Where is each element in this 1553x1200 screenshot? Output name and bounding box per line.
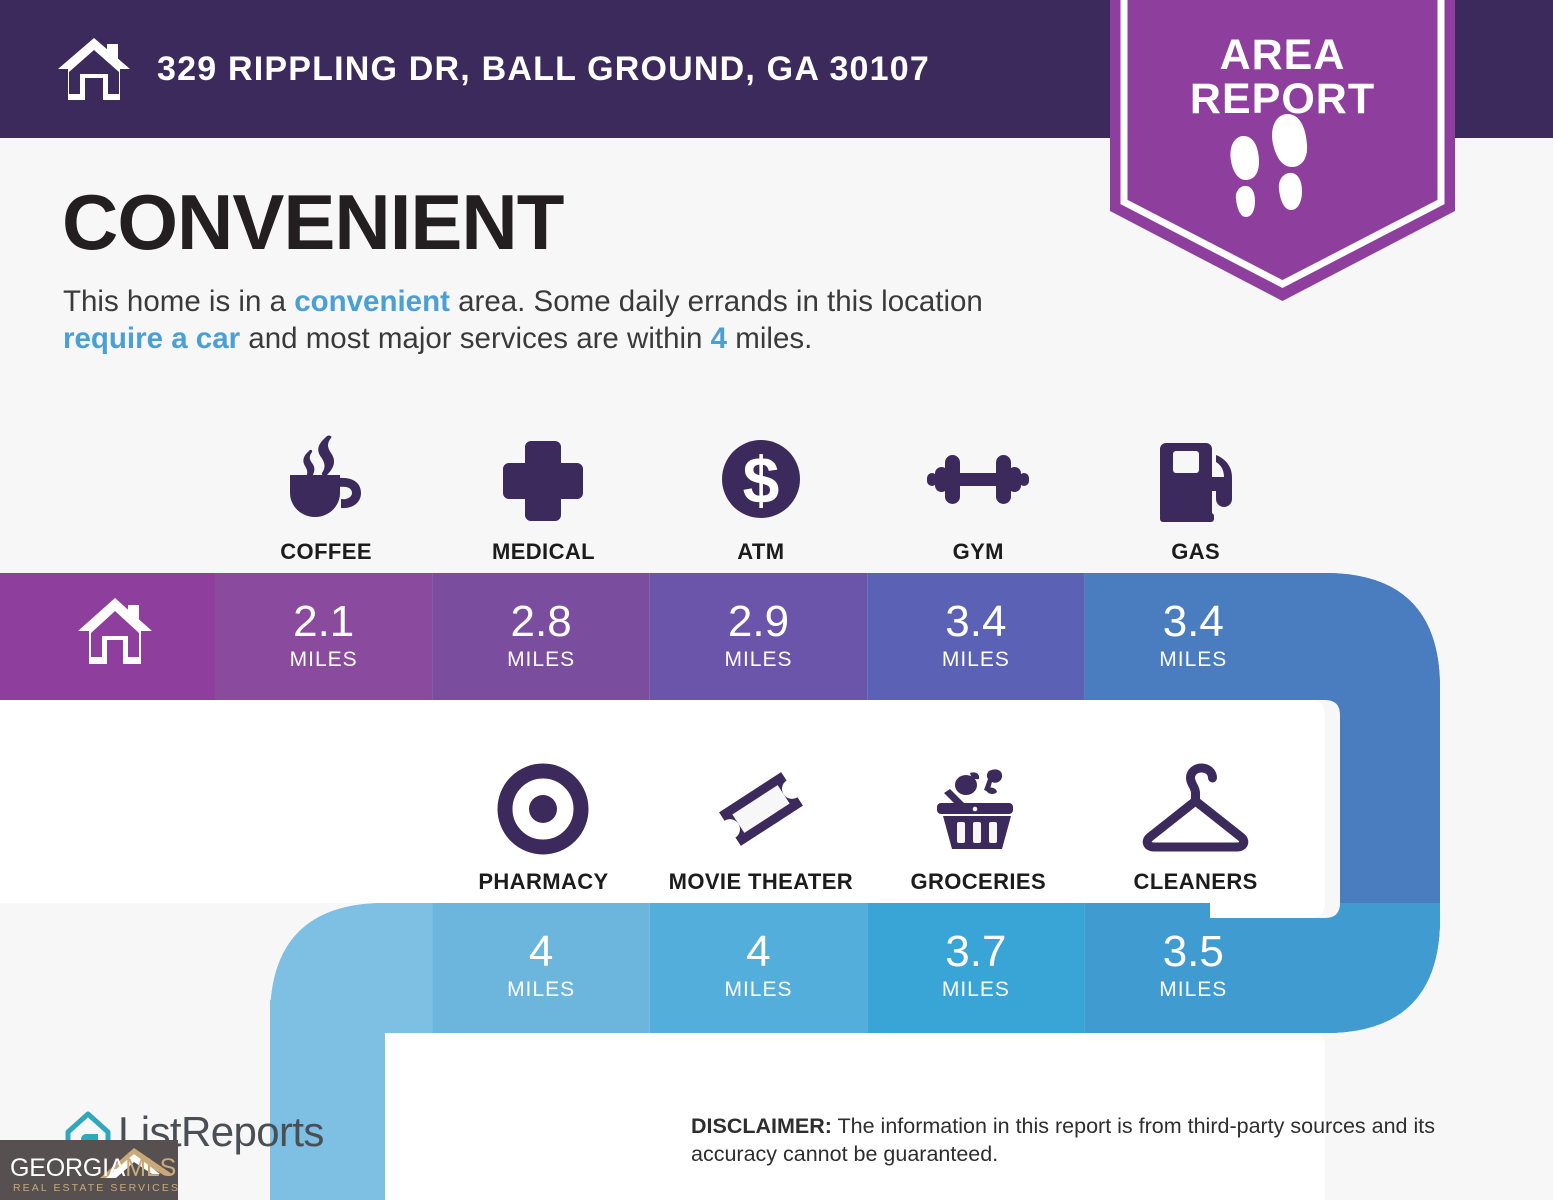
ribbon-row-2 (270, 903, 1452, 1033)
ticket-icon (706, 756, 816, 861)
icon-row-2: PHARMACY MOVIE THEATER (0, 745, 1553, 895)
ribbon-row2-lead (270, 903, 432, 1033)
ribbon-row2-seg-2 (867, 903, 1084, 1033)
distance-ribbon (0, 0, 1553, 1200)
georgia-mls-logo: GEORGIAMLS REAL ESTATE SERVICES (0, 1140, 178, 1200)
dumbbell-icon (923, 426, 1033, 531)
disclaimer: DISCLAIMER: The information in this repo… (691, 1112, 1491, 1169)
ribbon-row1-seg-0 (215, 573, 432, 700)
ribbon-row2-seg-0 (432, 903, 649, 1033)
ribbon-row1-seg-2 (650, 573, 867, 700)
category-gym: GYM (870, 415, 1087, 565)
category-cleaners: CLEANERS (1087, 745, 1304, 895)
category-pharmacy: PHARMACY (435, 745, 652, 895)
ribbon-row1-seg-4 (1085, 573, 1302, 700)
home-icon (76, 596, 154, 666)
icon-row1-spacer (0, 415, 217, 565)
fuel-pump-icon (1146, 426, 1246, 531)
bullseye-icon (493, 756, 593, 861)
icon-row2-spacer-a (0, 745, 217, 895)
grocery-basket-icon (923, 756, 1033, 861)
icon-row-1: COFFEE MEDICAL $ ATM (0, 415, 1553, 565)
category-label: MEDICAL (492, 539, 595, 565)
mls-wordmark: GEORGIAMLS (10, 1154, 176, 1183)
icon-row2-spacer-b (217, 745, 434, 895)
category-gas: GAS (1087, 415, 1304, 565)
medical-cross-icon (493, 426, 593, 531)
disclaimer-label: DISCLAIMER: (691, 1114, 832, 1138)
category-label: COFFEE (280, 539, 372, 565)
dollar-circle-icon: $ (711, 426, 811, 531)
mls-tagline: REAL ESTATE SERVICES (13, 1182, 178, 1194)
category-label: GYM (953, 539, 1004, 565)
category-label: MOVIE THEATER (669, 869, 853, 895)
ribbon-row2-seg-3 (1085, 903, 1302, 1033)
ribbon-row-1 (0, 573, 1452, 700)
clothes-hanger-icon (1138, 756, 1253, 861)
category-label: GROCERIES (910, 869, 1046, 895)
ribbon-row1-seg-3 (867, 573, 1084, 700)
ribbon-row1-seg-1 (432, 573, 649, 700)
category-label: CLEANERS (1134, 869, 1258, 895)
category-groceries: GROCERIES (870, 745, 1087, 895)
category-atm: $ ATM (652, 415, 869, 565)
category-label: GAS (1171, 539, 1220, 565)
category-label: PHARMACY (478, 869, 608, 895)
category-coffee: COFFEE (217, 415, 434, 565)
category-medical: MEDICAL (435, 415, 652, 565)
mls-word-2: MLS (125, 1154, 176, 1182)
coffee-cup-icon (276, 426, 376, 531)
svg-text:$: $ (743, 443, 780, 517)
mls-word-1: GEORGIA (10, 1154, 125, 1182)
category-movie-theater: MOVIE THEATER (652, 745, 869, 895)
category-label: ATM (737, 539, 784, 565)
ribbon-row2-seg-1 (650, 903, 867, 1033)
